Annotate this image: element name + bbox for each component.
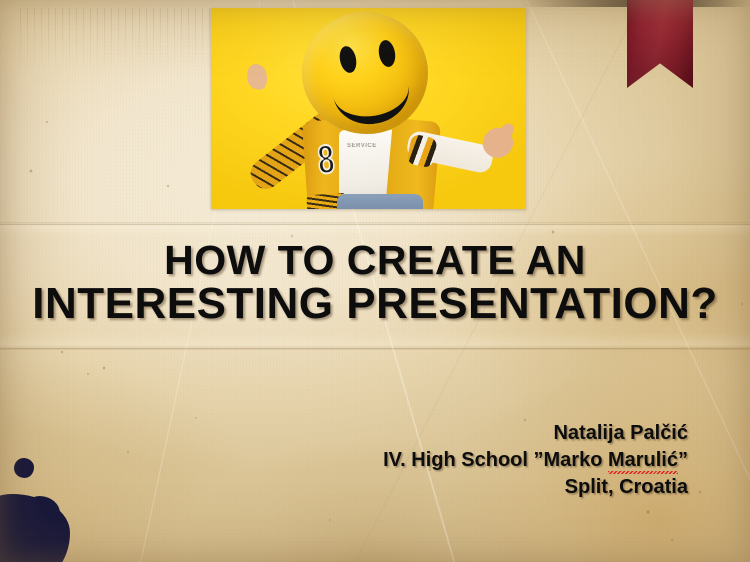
author-block: Natalija Palčić IV. High School ”Marko M… xyxy=(383,420,688,501)
title-slide: SERVICE 8 HOW TO CREATE AN INTERESTING P… xyxy=(0,0,750,562)
photo-jeans xyxy=(337,194,423,209)
slide-title-line1: HOW TO CREATE AN xyxy=(0,238,750,282)
author-school-suffix: ” xyxy=(678,449,688,471)
author-location: Split, Croatia xyxy=(383,474,688,501)
title-photo: SERVICE 8 xyxy=(211,8,526,209)
photo-jacket-number: 8 xyxy=(316,139,336,180)
author-school-misspelled-word: Marulić xyxy=(608,449,678,471)
author-name: Natalija Palčić xyxy=(383,420,688,447)
author-school: IV. High School ”Marko Marulić” xyxy=(383,447,688,474)
slide-title: HOW TO CREATE AN INTERESTING PRESENTATIO… xyxy=(0,238,750,326)
author-school-prefix: IV. High School ”Marko xyxy=(383,449,608,471)
slide-title-line2: INTERESTING PRESENTATION? xyxy=(0,282,750,326)
ink-blot-small-icon xyxy=(14,458,34,478)
